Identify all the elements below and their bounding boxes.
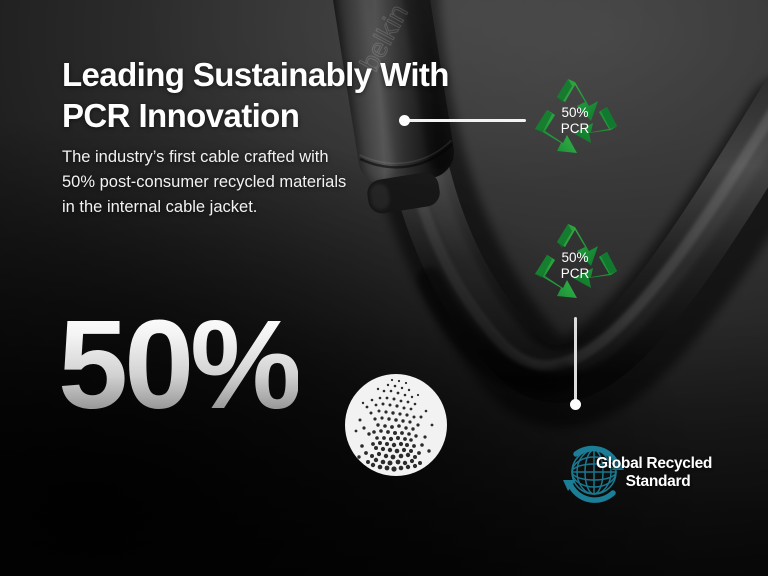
body-copy-line-2: 50% post-consumer recycled materials	[62, 170, 422, 195]
certification-line-1: Global Recycled	[596, 455, 724, 473]
headline-line-2: PCR Innovation	[62, 96, 482, 137]
recycle-badge-upper: 50% PCR	[527, 73, 623, 169]
stat-percentage: 50%	[58, 302, 298, 428]
body-copy: The industry’s first cable crafted with …	[62, 145, 422, 220]
recycled-pellets-inset	[344, 373, 448, 477]
promo-graphic: belkin Leading Sustainably With PCR Inno…	[0, 0, 768, 576]
body-copy-line-1: The industry’s first cable crafted with	[62, 145, 422, 170]
body-copy-line-3: in the internal cable jacket.	[62, 195, 422, 220]
certification-line-2: Standard	[596, 473, 724, 491]
leader-line-cable	[574, 317, 577, 405]
certification-logo: Global Recycled Standard	[556, 441, 724, 513]
headline: Leading Sustainably With PCR Innovation	[62, 55, 482, 137]
certification-label: Global Recycled Standard	[596, 455, 724, 491]
leader-dot-connector	[399, 115, 410, 126]
leader-dot-cable	[570, 399, 581, 410]
leader-line-connector	[404, 119, 526, 122]
recycle-badge-lower: 50% PCR	[527, 218, 623, 314]
headline-line-1: Leading Sustainably With	[62, 55, 482, 96]
